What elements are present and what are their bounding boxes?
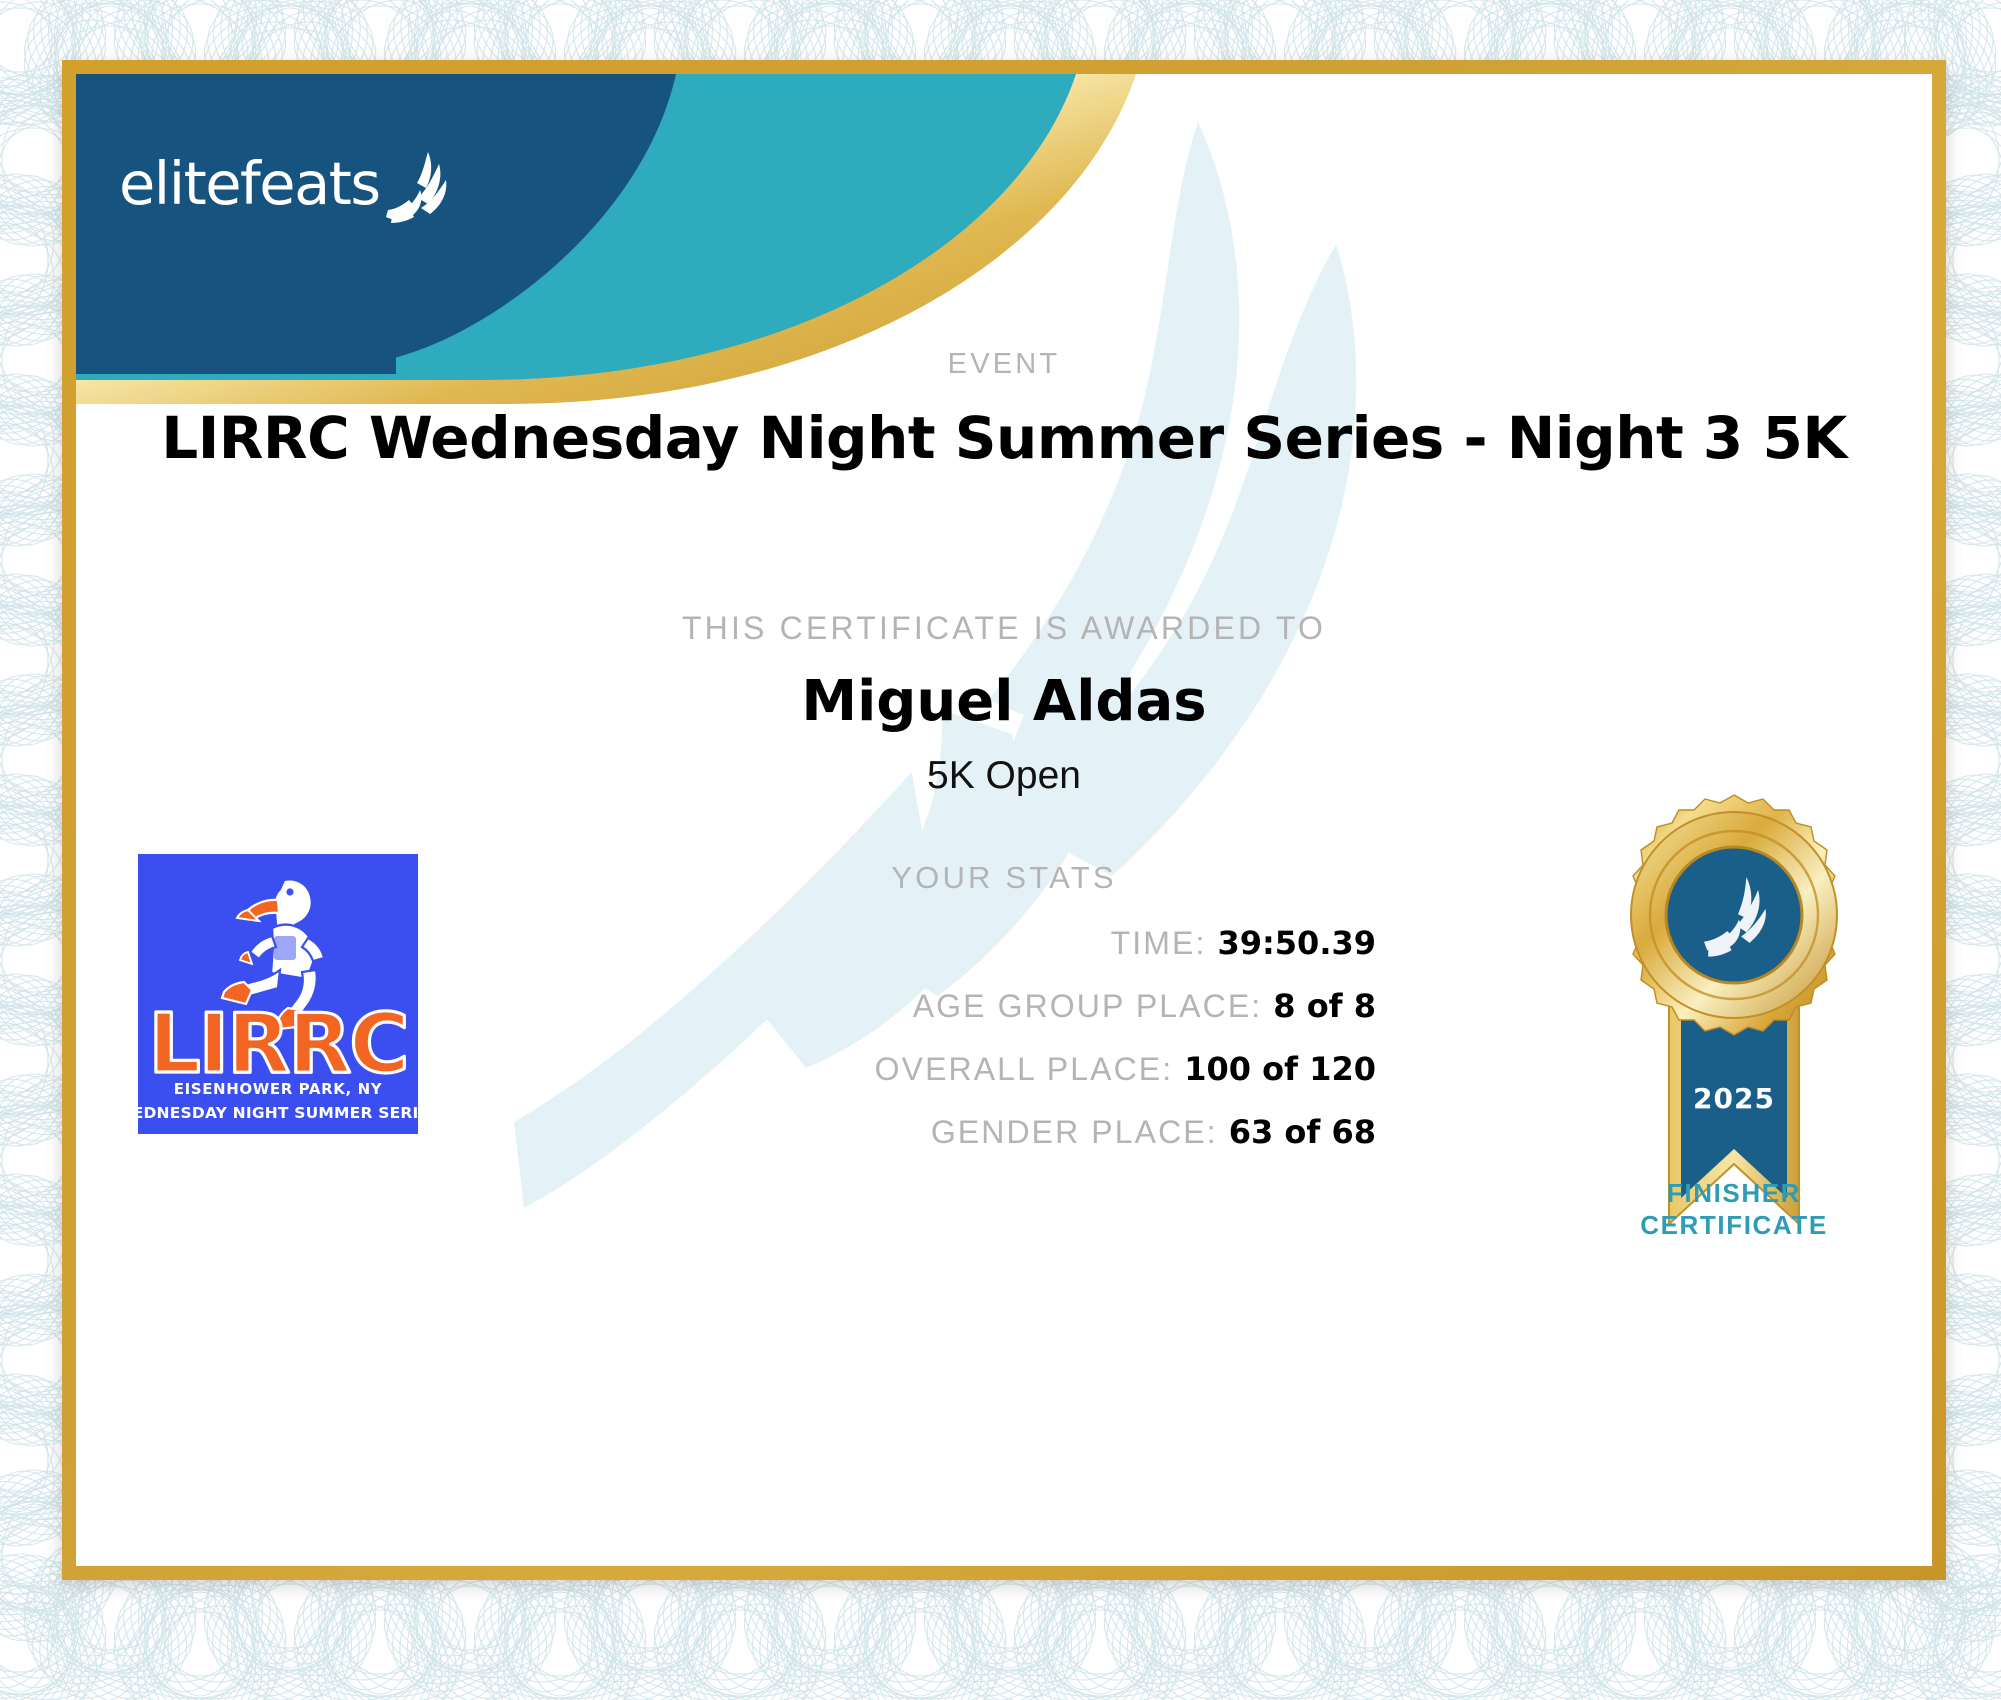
- certificate-card: elitefeats EVENT LIRRC Wednesday Night S…: [76, 74, 1932, 1566]
- recipient-name: Miguel Aldas: [76, 669, 1932, 734]
- lirrc-location: EISENHOWER PARK, NY: [174, 1080, 383, 1098]
- certificate-frame: elitefeats EVENT LIRRC Wednesday Night S…: [62, 60, 1946, 1580]
- stat-row-time: TIME: 39:50.39: [376, 924, 1376, 987]
- lirrc-series: WEDNESDAY NIGHT SUMMER SERIES: [138, 1104, 418, 1122]
- stat-value: 100 of 120: [1184, 1050, 1376, 1088]
- stat-value: 63 of 68: [1229, 1113, 1376, 1151]
- stat-label: OVERALL PLACE:: [875, 1051, 1174, 1088]
- brand-name: elitefeats: [119, 149, 380, 218]
- stat-label: AGE GROUP PLACE:: [913, 988, 1263, 1025]
- finisher-caption: FINISHER CERTIFICATE: [1596, 1178, 1872, 1241]
- svg-text:LIRRC: LIRRC: [148, 997, 407, 1092]
- stat-label: GENDER PLACE:: [931, 1114, 1218, 1151]
- stat-row-gender-place: GENDER PLACE: 63 of 68: [376, 1113, 1376, 1176]
- winged-foot-icon: [384, 150, 452, 224]
- event-title: LIRRC Wednesday Night Summer Series - Ni…: [76, 404, 1932, 472]
- awarded-to-label: THIS CERTIFICATE IS AWARDED TO: [76, 610, 1932, 647]
- stat-row-overall-place: OVERALL PLACE: 100 of 120: [376, 1050, 1376, 1113]
- stat-row-age-group-place: AGE GROUP PLACE: 8 of 8: [376, 987, 1376, 1050]
- elitefeats-logo: elitefeats: [119, 142, 452, 224]
- stat-value: 39:50.39: [1217, 924, 1376, 962]
- stat-value: 8 of 8: [1273, 987, 1376, 1025]
- stats-list: TIME: 39:50.39 AGE GROUP PLACE: 8 of 8 O…: [376, 924, 1376, 1176]
- medal-year-text: 2025: [1693, 1082, 1775, 1115]
- stat-label: TIME:: [1111, 925, 1207, 962]
- lirrc-race-logo: LIRRC EISENHOWER PARK, NY WEDNESDAY NIGH…: [138, 854, 418, 1134]
- event-label: EVENT: [76, 348, 1932, 381]
- finisher-caption-line1: FINISHER: [1596, 1178, 1872, 1210]
- finisher-caption-line2: CERTIFICATE: [1596, 1210, 1872, 1242]
